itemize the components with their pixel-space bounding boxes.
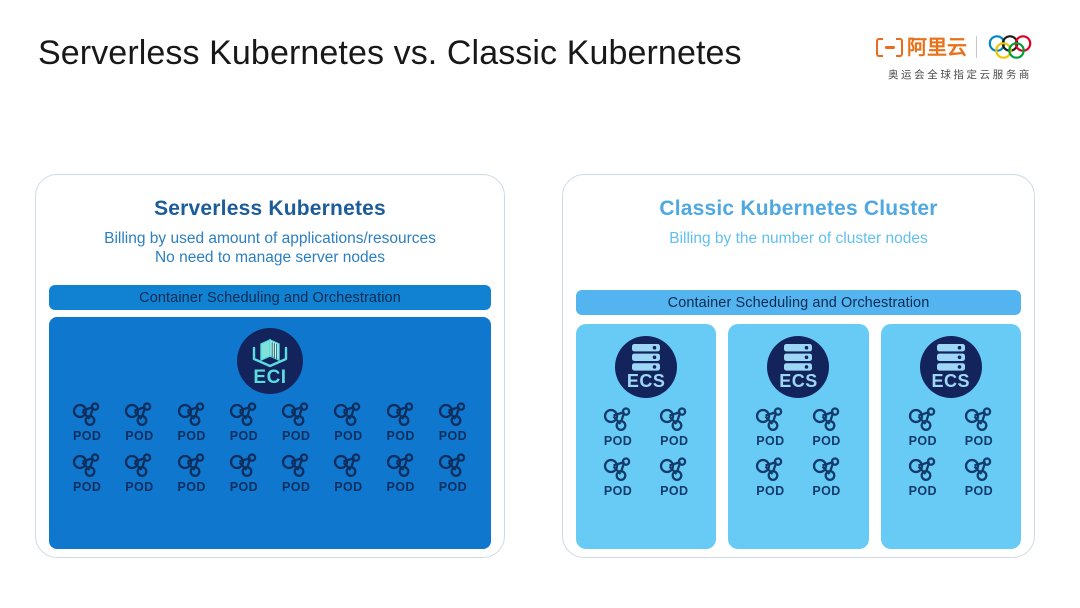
pod-item: POD: [113, 453, 165, 494]
pod-nodes-icon: [603, 407, 633, 433]
pod-label: POD: [125, 429, 153, 443]
pod-item: POD: [590, 407, 646, 448]
pod-nodes-icon: [177, 402, 207, 428]
panel-title-classic: Classic Kubernetes Cluster: [563, 197, 1034, 221]
pod-item: POD: [951, 457, 1007, 498]
ecs-badge-label: ECS: [627, 372, 666, 390]
olympic-rings-icon: [986, 34, 1044, 60]
pod-nodes-icon: [812, 457, 842, 483]
pod-item: POD: [798, 457, 854, 498]
pod-grid-serverless: PODPODPODPODPODPODPODPODPODPODPODPODPODP…: [49, 394, 491, 494]
pod-item: POD: [742, 457, 798, 498]
pod-label: POD: [177, 480, 205, 494]
server-rack-icon: [781, 336, 815, 374]
eci-body: ECI PODPODPODPODPODPODPODPODPODPODPODPOD…: [49, 317, 491, 549]
pod-label: POD: [73, 480, 101, 494]
ecs-node-card: ECSPODPODPODPOD: [728, 324, 868, 549]
pod-label: POD: [660, 484, 688, 498]
pod-nodes-icon: [659, 457, 689, 483]
ecs-node-card: ECSPODPODPODPOD: [576, 324, 716, 549]
pod-item: POD: [61, 453, 113, 494]
pod-item: POD: [375, 453, 427, 494]
brand-lockup: 阿里云 奥运会全球指定云服务商: [862, 33, 1058, 82]
ecs-node-row: ECSPODPODPODPODECSPODPODPODPODECSPODPODP…: [563, 315, 1034, 549]
pod-nodes-icon: [603, 457, 633, 483]
pod-label: POD: [604, 434, 632, 448]
pod-nodes-icon: [908, 457, 938, 483]
pod-nodes-icon: [812, 407, 842, 433]
pod-nodes-icon: [659, 407, 689, 433]
pod-item: POD: [322, 402, 374, 443]
panel-classic-kubernetes: Classic Kubernetes Cluster Billing by th…: [562, 174, 1035, 558]
pod-label: POD: [230, 429, 258, 443]
pod-nodes-icon: [72, 402, 102, 428]
pod-label: POD: [282, 480, 310, 494]
pod-label: POD: [177, 429, 205, 443]
pod-item: POD: [218, 402, 270, 443]
ecs-badge: ECS: [615, 336, 677, 398]
pod-grid-node: PODPODPODPOD: [881, 398, 1021, 498]
pod-item: POD: [166, 453, 218, 494]
pod-grid-node: PODPODPODPOD: [576, 398, 716, 498]
pod-nodes-icon: [333, 453, 363, 479]
pod-label: POD: [439, 429, 467, 443]
brand-name-cn: 阿里云: [907, 37, 967, 57]
orchestration-bar-classic: Container Scheduling and Orchestration: [576, 290, 1021, 315]
pod-label: POD: [909, 484, 937, 498]
panel-serverless-kubernetes: Serverless Kubernetes Billing by used am…: [35, 174, 505, 558]
pod-nodes-icon: [438, 402, 468, 428]
slide-header: Serverless Kubernetes vs. Classic Kubern…: [0, 0, 1080, 110]
pod-nodes-icon: [333, 402, 363, 428]
pod-label: POD: [386, 429, 414, 443]
pod-label: POD: [604, 484, 632, 498]
pod-nodes-icon: [438, 453, 468, 479]
eci-badge-wrap: ECI: [49, 317, 491, 394]
alibaba-cloud-logo-icon: 阿里云: [876, 37, 967, 57]
ecs-badge-wrap: ECS: [576, 324, 716, 398]
pod-nodes-icon: [72, 453, 102, 479]
server-rack-icon: [934, 336, 968, 374]
pod-nodes-icon: [281, 453, 311, 479]
pod-nodes-icon: [386, 402, 416, 428]
eci-badge: ECI: [237, 328, 303, 394]
pod-item: POD: [322, 453, 374, 494]
pod-nodes-icon: [386, 453, 416, 479]
pod-item: POD: [646, 457, 702, 498]
orchestration-bar-serverless: Container Scheduling and Orchestration: [49, 285, 491, 310]
pod-label: POD: [282, 429, 310, 443]
pod-item: POD: [895, 407, 951, 448]
pod-nodes-icon: [755, 457, 785, 483]
pod-nodes-icon: [229, 453, 259, 479]
pod-item: POD: [427, 402, 479, 443]
pod-label: POD: [909, 434, 937, 448]
pod-item: POD: [590, 457, 646, 498]
pod-label: POD: [439, 480, 467, 494]
pod-label: POD: [812, 484, 840, 498]
pod-item: POD: [270, 402, 322, 443]
pod-item: POD: [895, 457, 951, 498]
pod-grid-node: PODPODPODPOD: [728, 398, 868, 498]
pod-item: POD: [646, 407, 702, 448]
ecs-badge: ECS: [767, 336, 829, 398]
pod-item: POD: [166, 402, 218, 443]
eci-badge-label: ECI: [253, 368, 286, 387]
pod-item: POD: [798, 407, 854, 448]
pod-nodes-icon: [124, 402, 154, 428]
alibaba-cloud-mark-icon: [876, 38, 903, 57]
container-box-icon: [250, 328, 290, 369]
pod-nodes-icon: [964, 457, 994, 483]
ecs-badge: ECS: [920, 336, 982, 398]
panel-title-serverless: Serverless Kubernetes: [36, 197, 504, 221]
comparison-panels: Serverless Kubernetes Billing by used am…: [0, 174, 1080, 558]
pod-item: POD: [61, 402, 113, 443]
pod-item: POD: [270, 453, 322, 494]
pod-label: POD: [965, 434, 993, 448]
pod-label: POD: [73, 429, 101, 443]
pod-label: POD: [756, 434, 784, 448]
pod-label: POD: [756, 484, 784, 498]
brand-row: 阿里云: [862, 33, 1058, 61]
pod-label: POD: [965, 484, 993, 498]
pod-label: POD: [334, 480, 362, 494]
brand-tagline: 奥运会全球指定云服务商: [862, 67, 1058, 82]
pod-item: POD: [113, 402, 165, 443]
brand-divider: [976, 36, 977, 58]
pod-label: POD: [334, 429, 362, 443]
pod-item: POD: [951, 407, 1007, 448]
pod-nodes-icon: [755, 407, 785, 433]
pod-nodes-icon: [177, 453, 207, 479]
pod-nodes-icon: [229, 402, 259, 428]
panel-subtitle-line-1: Billing by used amount of applications/r…: [36, 229, 504, 248]
ecs-badge-wrap: ECS: [728, 324, 868, 398]
ecs-badge-wrap: ECS: [881, 324, 1021, 398]
pod-label: POD: [386, 480, 414, 494]
pod-nodes-icon: [908, 407, 938, 433]
panel-subtitle-line-1: Billing by the number of cluster nodes: [563, 229, 1034, 248]
panel-subtitle-line-2: No need to manage server nodes: [36, 248, 504, 267]
ecs-badge-label: ECS: [779, 372, 818, 390]
pod-nodes-icon: [281, 402, 311, 428]
pod-item: POD: [742, 407, 798, 448]
pod-label: POD: [812, 434, 840, 448]
pod-label: POD: [230, 480, 258, 494]
pod-item: POD: [427, 453, 479, 494]
pod-label: POD: [125, 480, 153, 494]
pod-item: POD: [218, 453, 270, 494]
page-title: Serverless Kubernetes vs. Classic Kubern…: [38, 34, 742, 73]
pod-nodes-icon: [964, 407, 994, 433]
pod-item: POD: [375, 402, 427, 443]
ecs-node-card: ECSPODPODPODPOD: [881, 324, 1021, 549]
pod-label: POD: [660, 434, 688, 448]
ecs-badge-label: ECS: [932, 372, 971, 390]
panel-subtitle-serverless: Billing by used amount of applications/r…: [36, 229, 504, 267]
server-rack-icon: [629, 336, 663, 374]
panel-subtitle-classic: Billing by the number of cluster nodes: [563, 229, 1034, 248]
pod-nodes-icon: [124, 453, 154, 479]
